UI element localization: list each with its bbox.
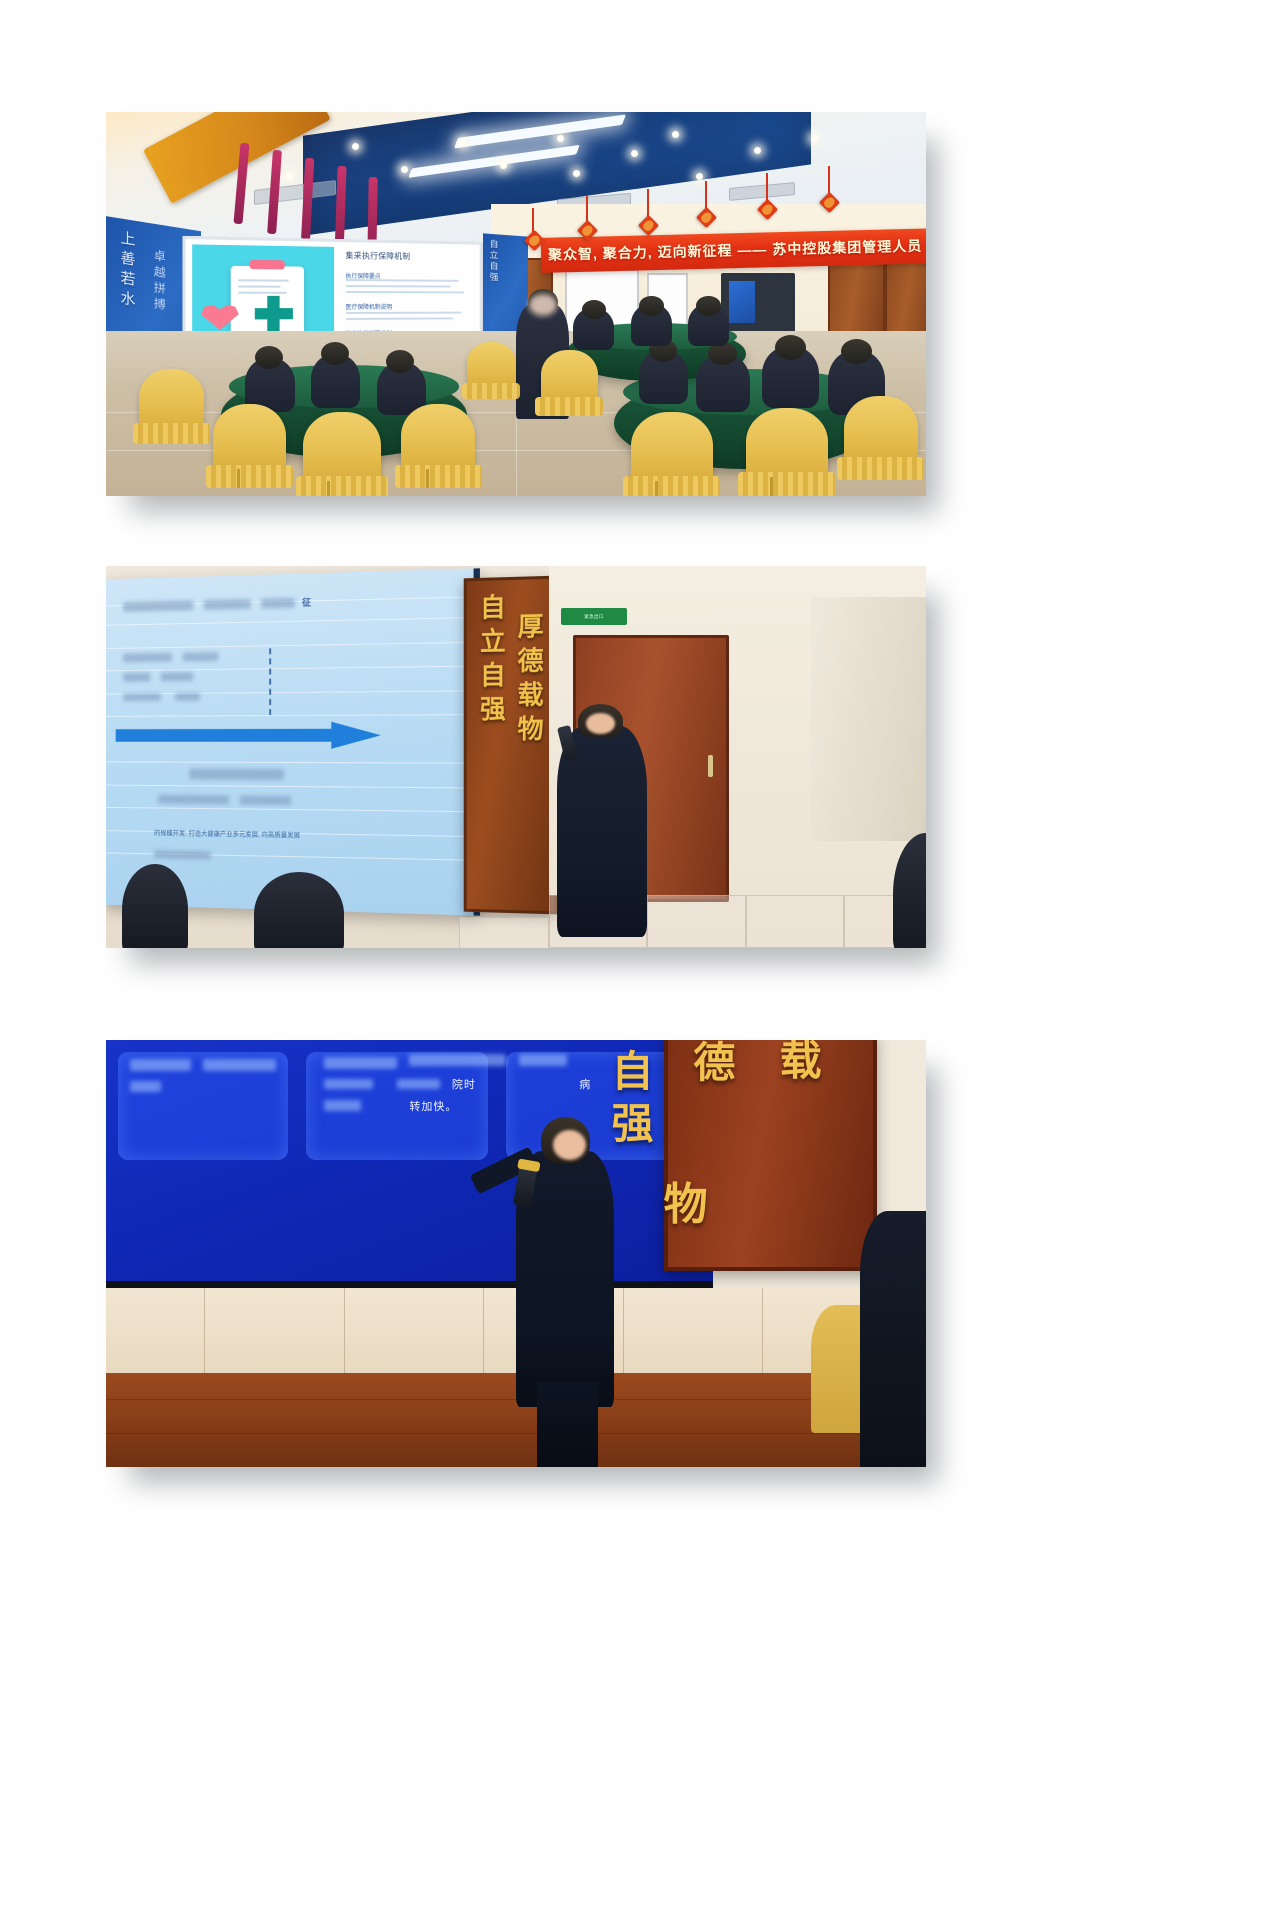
audience-silhouette xyxy=(122,864,188,948)
speaker-face xyxy=(586,713,616,734)
face-blur-mask xyxy=(529,294,557,315)
audience-silhouette xyxy=(254,872,344,948)
led-text-line-3: 病 xyxy=(579,1076,591,1092)
exit-sign-text: 紧急出口 xyxy=(584,614,603,620)
slide-bullet-2: 医疗保障机制说明 xyxy=(346,302,393,311)
calligraphy-wall-panel: 德 载 xyxy=(664,1040,877,1271)
white-curtain xyxy=(811,597,926,841)
banquet-chair xyxy=(401,404,475,473)
banquet-chair xyxy=(303,412,381,485)
led-text-line-2: 转加快。 xyxy=(409,1098,457,1114)
slide-medical-cross-icon xyxy=(255,308,293,319)
calligraphy-column-right: 自立自强 xyxy=(472,594,508,730)
slide-body-text: 的规模开发, 打造大健康产业多元发展, 向高质量发展 xyxy=(154,827,300,839)
calligraphy-char-zai: 载 xyxy=(766,1040,827,1094)
emergency-exit-sign: 紧急出口 xyxy=(561,608,627,625)
calligraphy-column-left: 厚德载物 xyxy=(510,613,547,750)
banquet-chair xyxy=(746,408,828,481)
speaker-face xyxy=(553,1130,586,1160)
banquet-chair xyxy=(213,404,287,473)
calligraphy-chars-ziqiang: 自强 xyxy=(598,1049,659,1153)
slide-label-right: 征 xyxy=(302,595,311,608)
speaker-led-screen-photo: 院时 病 转加快。 德 载 自强 物 xyxy=(106,1040,926,1467)
led-text-line-1: 院时 xyxy=(452,1076,476,1092)
attendee-head xyxy=(696,296,721,315)
left-banner-line-1: 上善若水 xyxy=(116,229,137,312)
left-banner-line-2: 卓越拼搏 xyxy=(151,248,168,315)
calligraphy-char-wu: 物 xyxy=(664,1168,708,1232)
attendee-head xyxy=(841,339,872,364)
conference-room-roundtable-photo: 上善若水 卓越拼搏 xyxy=(106,112,926,496)
center-banner-text: 自立自强 xyxy=(488,238,501,283)
slide-blue-arrow xyxy=(116,721,381,748)
banquet-chair xyxy=(139,369,205,430)
attendee-head xyxy=(775,335,806,360)
calligraphy-wall-panel: 自立自强 厚德载物 xyxy=(463,576,557,915)
door-handle[interactable] xyxy=(708,755,713,777)
speaker-legs xyxy=(537,1382,599,1467)
projection-screen: 征 的规模开发, 打造大健康产业多元发展, 向高质量发展 xyxy=(106,568,480,916)
attendee-head xyxy=(321,342,349,365)
foreground-attendee xyxy=(860,1211,926,1467)
banquet-chair xyxy=(467,342,516,388)
speaker-with-microphone-photo: 征 的规模开发, 打造大健康产业多元发展, 向高质量发展 自立自强 厚德载物 xyxy=(106,566,926,948)
calligraphy-char-de: 德 xyxy=(680,1040,741,1096)
attendee-head xyxy=(639,296,664,315)
banquet-chair xyxy=(541,350,598,404)
slide-title: 集采执行保障机制 xyxy=(346,250,411,262)
banquet-chair xyxy=(844,396,918,465)
tv-screen xyxy=(729,281,755,323)
red-banner-text: 聚众智, 聚合力, 迈向新征程 —— 苏中控股集团管理人员 xyxy=(540,236,922,265)
document-page: 上善若水 卓越拼搏 xyxy=(0,0,1279,1920)
banquet-chair xyxy=(631,412,713,485)
